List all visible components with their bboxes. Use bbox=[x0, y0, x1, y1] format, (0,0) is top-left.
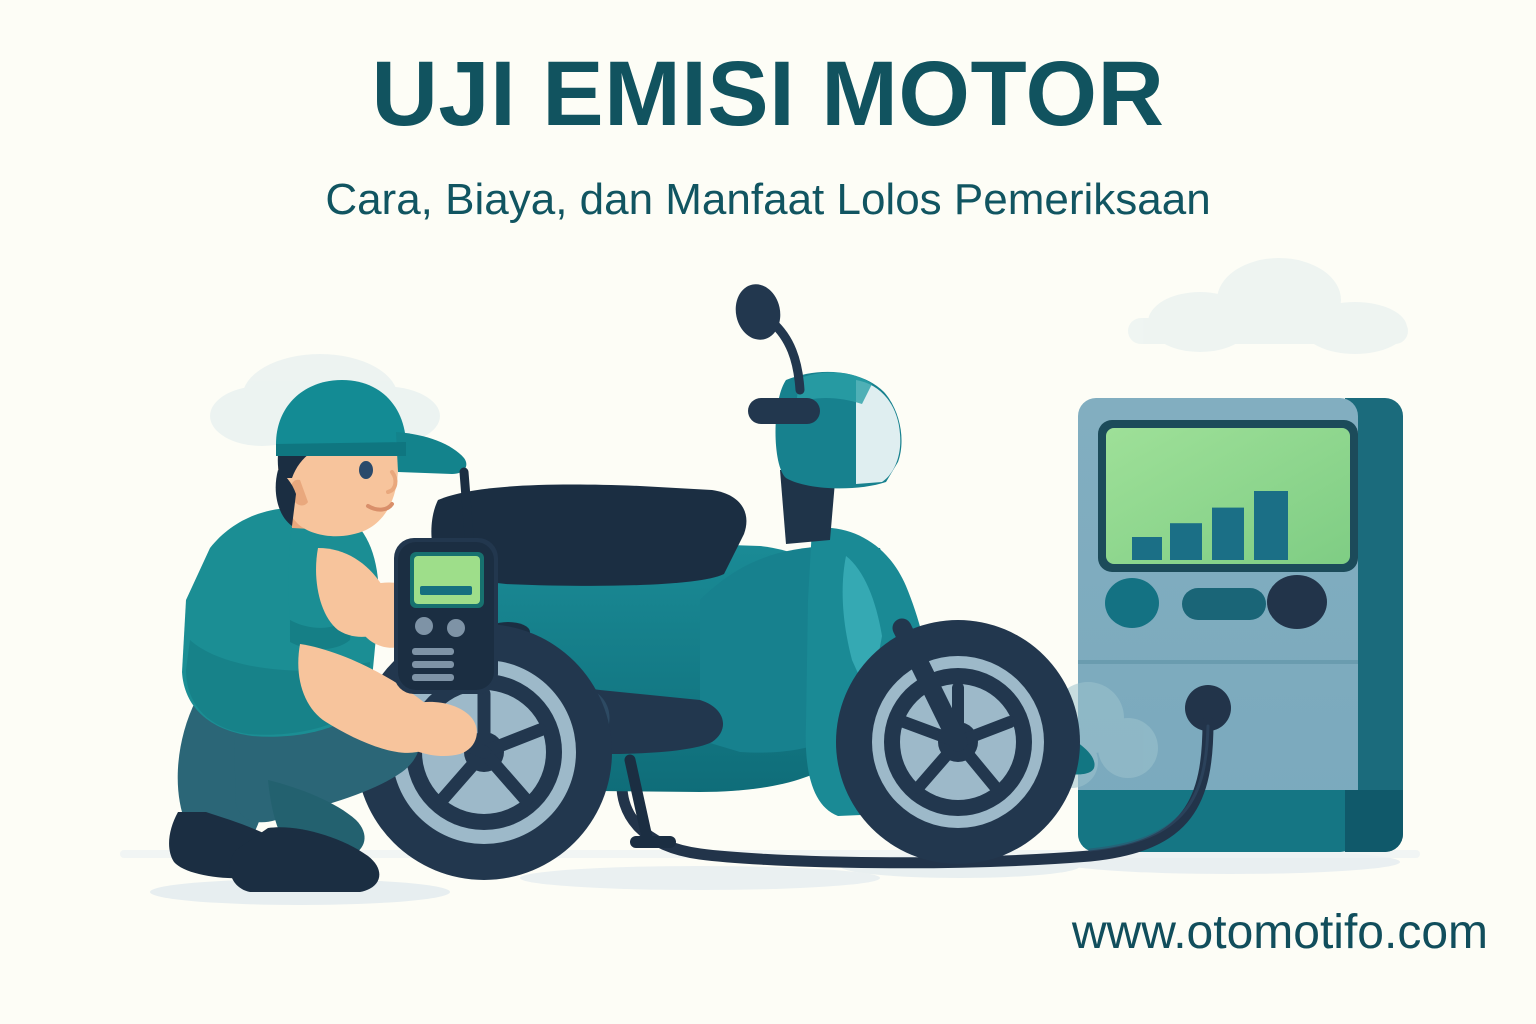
scooter-front-wheel bbox=[836, 620, 1080, 864]
tester-grille-3 bbox=[412, 674, 454, 681]
tester-button-right bbox=[447, 619, 465, 637]
tester-grille-2 bbox=[412, 661, 454, 668]
illustration-artboard bbox=[0, 0, 1536, 1024]
screen-bar-3 bbox=[1212, 508, 1244, 560]
screen-bar-2 bbox=[1170, 523, 1202, 560]
tester-button-left bbox=[415, 617, 433, 635]
technician-eye bbox=[359, 461, 373, 479]
tester-screen-line bbox=[420, 586, 472, 595]
poster-canvas: UJI EMISI MOTOR Cara, Biaya, dan Manfaat… bbox=[0, 0, 1536, 1024]
scooter-grip bbox=[748, 398, 820, 424]
analyzer-slot bbox=[1182, 588, 1266, 620]
tester-grille-1 bbox=[412, 648, 454, 655]
tester-screen bbox=[414, 556, 480, 604]
analyzer-knob-right bbox=[1267, 575, 1327, 629]
analyzer-knob-left bbox=[1105, 578, 1159, 628]
tester-antenna bbox=[464, 472, 470, 548]
screen-bar-4 bbox=[1254, 491, 1288, 560]
screen-bar-1 bbox=[1132, 537, 1162, 560]
analyzer-machine[interactable] bbox=[1078, 398, 1403, 852]
